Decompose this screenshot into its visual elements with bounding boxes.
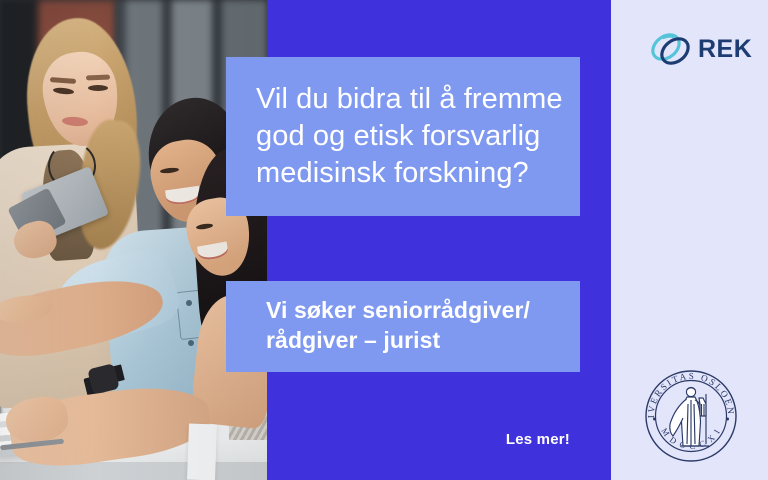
job-title-line-2: rådgiver – jurist: [266, 325, 560, 355]
headline-line-3: medisinsk forskning?: [256, 155, 554, 192]
job-title-card: Vi søker seniorrådgiver/ rådgiver – juri…: [226, 281, 580, 372]
read-more-link[interactable]: Les mer!: [440, 431, 570, 448]
interlocking-rings-icon: [648, 27, 694, 71]
rek-logo[interactable]: REK: [648, 26, 744, 72]
headline-line-1: Vil du bidra til å fremme: [256, 81, 554, 118]
job-title-line-1: Vi søker seniorrådgiver/: [266, 295, 560, 325]
headline-line-2: god og etisk forsvarlig: [256, 118, 554, 155]
rek-wordmark: REK: [698, 37, 752, 62]
uio-seal: UNIVERSITAS OSLOENSIS M D C C C X I: [639, 364, 743, 468]
recruitment-banner: Vil du bidra til å fremme god og etisk f…: [0, 0, 768, 480]
headline-card: Vil du bidra til å fremme god og etisk f…: [226, 57, 580, 216]
